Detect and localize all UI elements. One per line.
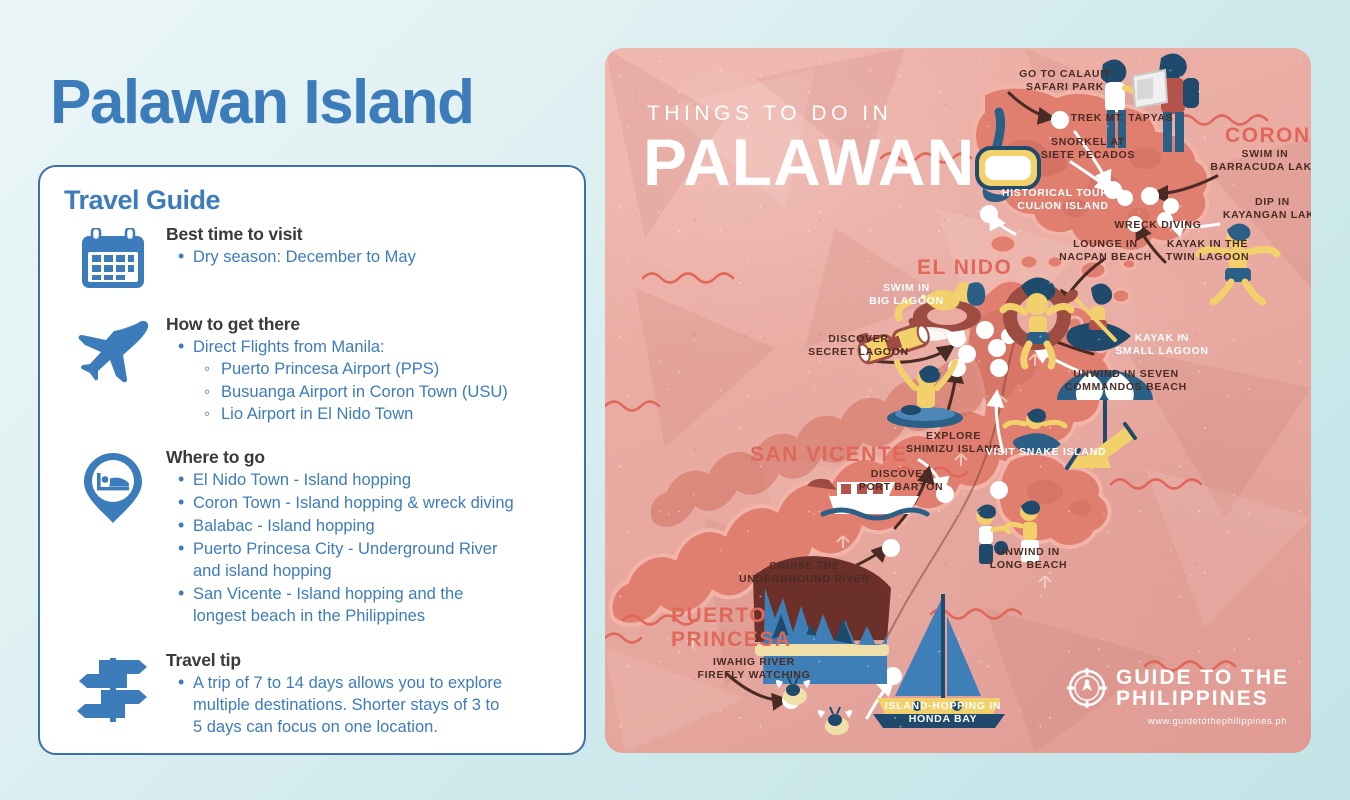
map-header-small: THINGS TO DO IN — [647, 102, 892, 126]
sub-list-item: Lio Airport in El Nido Town — [193, 403, 564, 426]
signpost-icon — [60, 648, 166, 724]
region-el-nido: EL NIDO — [917, 256, 1012, 280]
brand-text: GUIDE TO THE PHILIPPINES — [1116, 667, 1289, 709]
compass-icon — [1067, 668, 1107, 708]
list-item: Balabac - Island hopping — [166, 515, 564, 537]
poi-label-seven-commandos: UNWIND IN SEVEN COMMANDOS BEACH — [1041, 368, 1211, 394]
card-title: Travel Guide — [64, 185, 564, 216]
list-item: Direct Flights from Manila: Puerto Princ… — [166, 336, 564, 426]
poi-label-underground-river: CRUISE THE UNDERGROUND RIVER — [717, 560, 892, 586]
brand-url: www.guidetothephilippines.ph — [1148, 716, 1287, 727]
region-puerto-princesa: PUERTO PRINCESA — [671, 604, 792, 652]
travel-guide-card: Travel Guide — [38, 165, 586, 755]
region-san-vicente: SAN VICENTE — [750, 443, 908, 467]
poi-label-wreck-diving: WRECK DIVING — [1103, 219, 1213, 232]
poi-label-culion-island: HISTORICAL TOUR IN CULION ISLAND — [983, 187, 1143, 213]
list-item: Coron Town - Island hopping & wreck divi… — [166, 492, 564, 514]
sub-list-item: Puerto Princesa Airport (PPS) — [193, 358, 564, 381]
palawan-map-illustration: THINGS TO DO IN PALAWAN CORON EL NIDO SA… — [605, 48, 1311, 753]
section-where-to-go: Where to go El Nido Town - Island hoppin… — [60, 445, 564, 628]
poi-label-snake-island: VISIT SNAKE ISLAND — [971, 446, 1121, 459]
list-item-text: Puerto Princesa City - Underground River — [193, 540, 497, 558]
list-item-text: Direct Flights from Manila: — [193, 338, 385, 356]
list-item-text-cont: multiple destinations. Shorter stays of … — [193, 694, 564, 716]
brand-line-1: GUIDE TO THE — [1116, 667, 1289, 688]
section-list: Dry season: December to May — [166, 246, 564, 268]
list-item-text: A trip of 7 to 14 days allows you to exp… — [193, 674, 502, 692]
list-item-text-cont: longest beach in the Philippines — [193, 605, 564, 627]
list-item: El Nido Town - Island hopping — [166, 469, 564, 491]
section-heading: Where to go — [166, 447, 564, 468]
brand-line-2: PHILIPPINES — [1116, 688, 1289, 709]
signpost-icon-svg — [77, 654, 149, 724]
sub-list: Puerto Princesa Airport (PPS) Busuanga A… — [193, 358, 564, 426]
poi-label-big-lagoon: SWIM IN BIG LAGOON — [849, 282, 964, 308]
poi-label-secret-lagoon: DISCOVER SECRET LAGOON — [791, 333, 926, 359]
section-travel-tip: Travel tip A trip of 7 to 14 days allows… — [60, 648, 564, 739]
poi-label-kayangan-lake: DIP IN KAYANGAN LAKE — [1205, 196, 1311, 222]
list-item-text-cont: and island hopping — [193, 560, 564, 582]
calendar-icon — [60, 222, 166, 290]
poi-label-long-beach: UNWIND IN LONG BEACH — [971, 546, 1086, 572]
section-heading: How to get there — [166, 314, 564, 335]
poi-label-nacpan-beach: LOUNGE IN NACPAN BEACH — [1043, 238, 1168, 264]
hotel-pin-icon — [60, 445, 166, 525]
region-coron: CORON — [1225, 124, 1311, 148]
brand-logo: GUIDE TO THE PHILIPPINES — [1067, 667, 1289, 709]
list-item: Puerto Princesa City - Underground River… — [166, 538, 564, 582]
section-heading: Travel tip — [166, 650, 564, 671]
poi-label-honda-bay: ISLAND-HOPPING IN HONDA BAY — [863, 700, 1023, 726]
calendar-icon-svg — [80, 228, 146, 290]
list-item-text: San Vicente - Island hopping and the — [193, 585, 463, 603]
airplane-icon-svg — [75, 318, 151, 384]
poi-label-port-barton: DISCOVER PORT BARTON — [841, 468, 961, 494]
section-how-to-get-there: How to get there Direct Flights from Man… — [60, 312, 564, 427]
list-item: A trip of 7 to 14 days allows you to exp… — [166, 672, 564, 738]
poi-label-calauit-safari: GO TO CALAUIT SAFARI PARK — [1000, 68, 1130, 94]
airplane-icon — [60, 312, 166, 384]
page-title: Palawan Island — [50, 72, 474, 134]
sub-list-item: Busuanga Airport in Coron Town (USU) — [193, 381, 564, 404]
poi-label-iwahig-fireflies: IWAHIG RIVER FIREFLY WATCHING — [679, 656, 829, 682]
poi-label-small-lagoon: KAYAK IN SMALL LAGOON — [1097, 332, 1227, 358]
section-list: El Nido Town - Island hopping Coron Town… — [166, 469, 564, 627]
section-list: A trip of 7 to 14 days allows you to exp… — [166, 672, 564, 738]
list-item: Dry season: December to May — [166, 246, 564, 268]
map-header-big: PALAWAN — [643, 124, 975, 200]
list-item: San Vicente - Island hopping and the lon… — [166, 583, 564, 627]
poi-label-mt-tapyas: TREK MT. TAPYAS — [1057, 112, 1187, 125]
list-item-text-cont2: 5 days can focus on one location. — [193, 716, 564, 738]
poi-label-barracuda-lake: SWIM IN BARRACUDA LAKE — [1195, 148, 1311, 174]
left-panel: Palawan Island Travel Guide — [0, 0, 600, 800]
section-best-time: Best time to visit Dry season: December … — [60, 222, 564, 290]
section-list: Direct Flights from Manila: Puerto Princ… — [166, 336, 564, 426]
hotel-pin-icon-svg — [82, 451, 144, 525]
section-heading: Best time to visit — [166, 224, 564, 245]
poi-label-siete-pecados: SNORKEL AT SIETE PECADOS — [1023, 136, 1153, 162]
